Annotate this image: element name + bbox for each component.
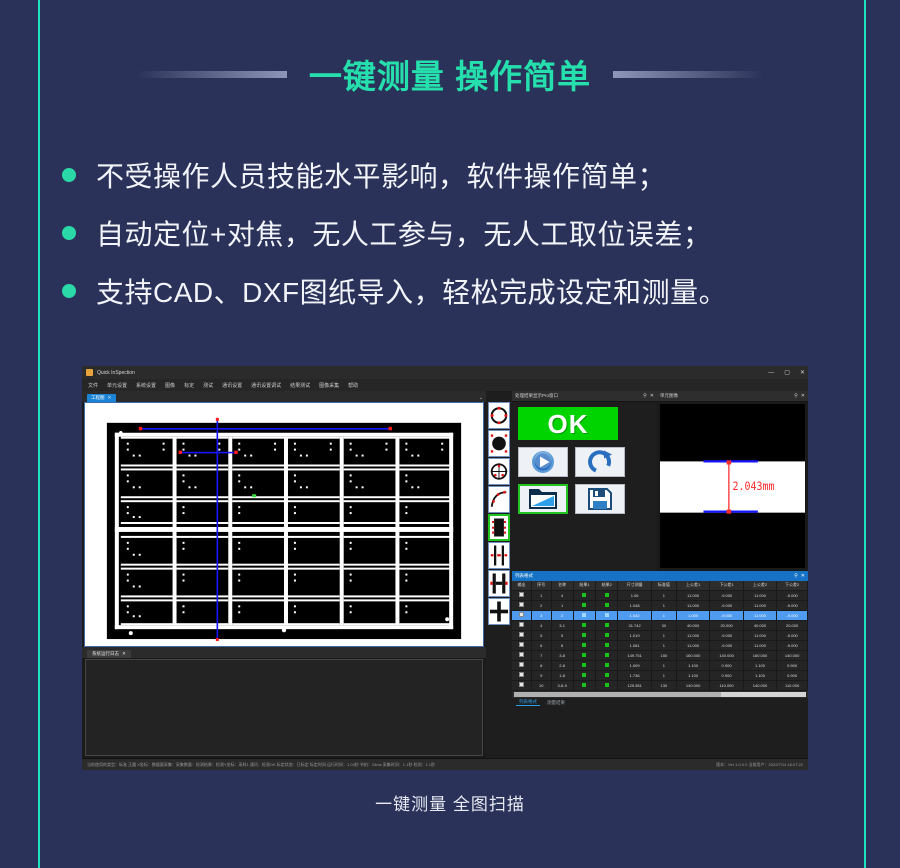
circle-outline-tool-icon[interactable] [488,402,510,429]
cell-upper1: 11.000 [676,630,709,640]
table-row[interactable]: 551.019111.000-9.00011.000-9.000 [512,630,808,640]
cell-name: 6 [551,640,573,650]
cell-lower2: 0.900 [777,670,808,680]
cell-name: 1-8 [551,670,573,680]
status-dot-icon [605,663,609,667]
status-left-text: 当前使用的类型：标准 正圆 X坐标：数据量采集：采集数量：检测结果：检测Y坐标：… [87,762,716,768]
cell-result1 [573,670,595,680]
cell-index: 4 [532,620,552,630]
col-result1[interactable]: 结果1 [573,581,595,590]
cell-lower1: 0.900 [710,670,743,680]
cell-upper2: 11.000 [743,590,776,600]
log-tabbar: 系统运行日志 ✕ [82,647,486,658]
cell-output [512,650,532,660]
cell-measure: 129.381 [618,680,651,690]
cell-measure: 1.736 [618,670,651,680]
cell-result1 [573,620,595,630]
status-dot-icon [605,613,609,617]
col-upper2[interactable]: 上公差2 [743,581,776,590]
scrollbar-track[interactable] [514,692,806,697]
list-item: 自动定位+对焦，无人工参与，无人工取位误差； [62,204,852,262]
cell-upper2: 11.000 [743,630,776,640]
cell-result2 [596,640,618,650]
tab-list-format[interactable]: 列表格式 [516,699,540,706]
menu-item-image[interactable]: 图像 [165,382,175,389]
tab-label: 系统运行日志 [92,651,119,657]
cell-lower1: 0.900 [710,660,743,670]
measurement-panel-header: 单元图像 ⚲ ✕ [657,391,808,402]
row-checkbox[interactable] [519,682,524,687]
table-row[interactable]: 103-8-9129.381130140.000110.000140.00011… [512,680,808,690]
cell-standard: 1 [651,610,676,620]
cad-tabbar: 工程图 ✕ ⌄ [82,391,486,402]
cell-standard: 150 [651,650,676,660]
cell-result1 [573,600,595,610]
cell-index: 3 [532,610,552,620]
tab-label: 工程图 [91,395,105,401]
close-icon[interactable]: ✕ [801,394,805,399]
status-dot-icon [582,653,586,657]
status-dot-icon [582,593,586,597]
cell-upper1: 11.000 [676,590,709,600]
table-row[interactable]: 661.061111.000-9.00011.000-9.000 [512,640,808,650]
cell-index: 8 [532,660,552,670]
table-row[interactable]: 211.048111.000-9.00011.000-9.000 [512,600,808,610]
control-panel-body: OK [512,402,657,571]
cad-column: 工程图 ✕ ⌄ [82,391,486,758]
measurement-graphic: 2.043mm [660,404,805,568]
cell-measure: 1.042 [618,610,651,620]
cell-result2 [596,630,618,640]
screenshot-caption: 一键测量 全图扫描 [0,790,900,815]
results-table-title: 列表格式 [515,573,791,579]
table-horizontal-scrollbar[interactable] [512,691,808,698]
col-index[interactable]: 序号 [532,581,552,590]
cell-standard: 1 [651,600,676,610]
close-icon[interactable]: ✕ [108,395,112,401]
promo-page: 一键测量 操作简单 不受操作人员技能水平影响，软件操作简单； 自动定位+对焦，无… [0,0,900,868]
col-standard[interactable]: 标准值 [651,581,676,590]
cell-index: 5 [532,630,552,640]
status-dot-icon [605,633,609,637]
cell-name: 3-1 [551,620,573,630]
cell-measure: 31.742 [618,620,651,630]
close-icon[interactable]: ✕ [801,574,805,579]
col-lower2[interactable]: 下公差2 [777,581,808,590]
cell-output [512,640,532,650]
table-row[interactable]: 91-81.73611.1000.9001.1000.900 [512,670,808,680]
bullet-text: 支持CAD、DXF图纸导入，轻松完成设定和测量。 [96,271,727,311]
cell-upper2: 40.000 [743,620,776,630]
close-icon[interactable]: ✕ [122,651,126,657]
cell-standard: 1 [651,630,676,640]
table-row[interactable]: 43-131.7423040.00020.00040.00020.000 [512,620,808,630]
bullet-dot-icon [62,168,76,182]
edge-tool-icon[interactable] [488,514,510,541]
status-dot-icon [582,663,586,667]
cell-result1 [573,650,595,660]
cell-measure: 1.061 [618,640,651,650]
cell-upper1: 140.000 [676,680,709,690]
status-dot-icon [605,673,609,677]
heading-row: 一键测量 操作简单 [0,50,900,98]
cell-upper2: 160.000 [743,650,776,660]
cell-measure: 1.06 [618,590,651,600]
tab-system-log[interactable]: 系统运行日志 ✕ [87,650,131,658]
cell-result1 [573,630,595,640]
col-result2[interactable]: 结果2 [596,581,618,590]
heading-decor-right [613,71,763,78]
results-column: 处理结果显示Pro窗口 ⚲ ✕ OK [512,391,808,758]
cell-lower1: -9.000 [710,630,743,640]
tab-measure-result[interactable]: 测量结果 [544,700,568,706]
cell-lower1: 140.000 [710,650,743,660]
pin-icon[interactable]: ⚲ [643,394,647,399]
cell-result2 [596,600,618,610]
cell-output [512,630,532,640]
menu-item-test[interactable]: 测试 [203,382,213,389]
measurement-canvas[interactable]: 2.043mm [657,402,808,571]
chevron-down-icon[interactable]: ⌄ [479,395,483,401]
heading-decor-left [137,71,287,78]
cell-upper1: 11.000 [676,600,709,610]
status-right-text: 版本：Ver 1.0.0.0 当前用户：2022/7/14 18:07:22 [716,762,803,768]
pcb-panel-drawing [85,403,483,646]
cell-upper2: 11.000 [743,610,776,620]
results-table-panel: 列表格式 ⚲ ✕ 输出 序号 名称 结果1 结果2 尺寸测 [512,571,808,758]
cell-upper1: 1.000 [676,610,709,620]
cell-upper1: 40.000 [676,620,709,630]
col-lower1[interactable]: 下公差1 [710,581,743,590]
app-titlebar: Quick InSpection — ▢ ✕ [82,366,808,379]
scrollbar-thumb[interactable] [514,692,721,697]
cell-upper1: 160.000 [676,650,709,660]
cell-lower1: 110.000 [710,680,743,690]
play-button-icon[interactable] [518,447,568,477]
bullet-dot-icon [62,284,76,298]
cell-measure: 1.048 [618,600,651,610]
cell-result1 [573,590,595,600]
cell-lower1: -9.000 [710,600,743,610]
status-dot-icon [582,613,586,617]
cell-output [512,600,532,610]
cell-lower2: 20.000 [777,620,808,630]
maximize-icon[interactable]: ▢ [784,370,790,376]
cell-result2 [596,650,618,660]
row-checkbox[interactable] [519,622,524,627]
cell-standard: 130 [651,680,676,690]
col-name[interactable]: 名称 [551,581,573,590]
col-upper1[interactable]: 上公差1 [676,581,709,590]
cell-output [512,620,532,630]
cell-lower2: -9.000 [777,590,808,600]
app-statusbar: 当前使用的类型：标准 正圆 X坐标：数据量采集：采集数量：检测结果：检测Y坐标：… [82,758,808,770]
menu-item-help[interactable]: 帮助 [348,382,358,389]
cell-lower2: 140.000 [777,650,808,660]
cell-standard: 1 [651,660,676,670]
crosshair-point-tool-icon[interactable] [488,598,510,625]
cell-output [512,590,532,600]
cell-upper2: 11.000 [743,640,776,650]
menu-item-calibration[interactable]: 标定 [184,382,194,389]
results-tabbar: 列表格式 测量结果 [512,698,808,708]
list-item: 支持CAD、DXF图纸导入，轻松完成设定和测量。 [62,262,852,320]
cell-upper1: 1.100 [676,660,709,670]
pin-icon[interactable]: ⚲ [794,574,798,579]
menu-item-file[interactable]: 文件 [88,382,98,389]
cell-measure: 1.009 [618,660,651,670]
cell-upper2: 140.000 [743,680,776,690]
cell-output [512,610,532,620]
control-panel-title: 处理结果显示Pro窗口 [515,393,643,399]
app-title: Quick InSpection [97,370,135,376]
cell-result1 [573,640,595,650]
decor-rail-left [38,0,40,868]
cell-upper2: 1.100 [743,670,776,680]
tab-engineering-drawing[interactable]: 工程图 ✕ [87,394,116,402]
cell-upper2: 1.100 [743,660,776,670]
table-row[interactable]: 82-81.00911.1000.9001.1000.900 [512,660,808,670]
software-screenshot: Quick InSpection — ▢ ✕ 文件 单元设置 系统设置 图像 标… [82,366,808,770]
row-checkbox[interactable] [519,662,524,667]
measurement-panel-title: 单元图像 [660,393,794,399]
cell-lower2: -9.000 [777,630,808,640]
cad-drawing-canvas[interactable] [84,402,484,647]
cell-name: 2-8 [551,660,573,670]
arc-tool-icon[interactable] [488,486,510,513]
row-checkbox[interactable] [519,592,524,597]
menu-item-comm-debug[interactable]: 通讯设置调试 [251,382,281,389]
table-row[interactable]: 73-8149.751150160.000140.000160.000140.0… [512,650,808,660]
cell-output [512,680,532,690]
cell-result2 [596,610,618,620]
app-menubar: 文件 单元设置 系统设置 图像 标定 测试 通讯设置 通讯设置调试 结果测试 图… [82,379,808,391]
cell-standard: 1 [651,590,676,600]
cell-name: 4 [551,590,573,600]
cell-index: 6 [532,640,552,650]
menu-item-comm-settings[interactable]: 通讯设置 [222,382,242,389]
close-icon[interactable]: ✕ [650,394,654,399]
open-folder-icon[interactable] [518,484,568,514]
cell-result2 [596,620,618,630]
decor-rail-right [864,0,866,868]
menu-item-unit-settings[interactable]: 单元设置 [107,382,127,389]
status-dot-icon [605,643,609,647]
results-top-row: 处理结果显示Pro窗口 ⚲ ✕ OK [512,391,808,571]
cell-result2 [596,660,618,670]
cell-upper1: 1.100 [676,670,709,680]
menu-item-system-settings[interactable]: 系统设置 [136,382,156,389]
row-checkbox[interactable] [519,612,524,617]
app-body: 工程图 ✕ ⌄ [82,391,808,758]
control-panel: 处理结果显示Pro窗口 ⚲ ✕ OK [512,391,657,571]
cell-name: 3-8 [551,650,573,660]
table-row[interactable]: 321.04211.000-9.00011.000-9.000 [512,610,808,620]
status-dot-icon [582,643,586,647]
measurement-value-label: 2.043mm [733,480,775,494]
cell-upper2: 11.000 [743,600,776,610]
cell-result2 [596,680,618,690]
window-controls: — ▢ ✕ [768,366,805,379]
cell-measure: 1.019 [618,630,651,640]
minimize-icon[interactable]: — [768,370,774,376]
cell-lower1: 20.000 [710,620,743,630]
pin-icon[interactable]: ⚲ [794,394,798,399]
bullet-text: 自动定位+对焦，无人工参与，无人工取位误差； [96,213,711,253]
status-dot-icon [605,603,609,607]
list-item: 不受操作人员技能水平影响，软件操作简单； [62,146,852,204]
cell-name: 3-8-9 [551,680,573,690]
status-badge-text: OK [548,411,589,437]
cell-lower2: -9.000 [777,640,808,650]
row-checkbox[interactable] [519,642,524,647]
cell-result1 [573,680,595,690]
cell-standard: 30 [651,620,676,630]
status-badge: OK [518,407,618,440]
measurement-tool-strip [486,391,512,758]
col-output[interactable]: 输出 [512,581,532,590]
cell-upper1: 11.000 [676,640,709,650]
row-checkbox[interactable] [519,632,524,637]
status-dot-icon [605,623,609,627]
cell-index: 1 [532,590,552,600]
row-checkbox[interactable] [519,652,524,657]
cell-index: 9 [532,670,552,680]
app-logo-icon [86,369,93,376]
results-table-header: 列表格式 ⚲ ✕ [512,571,808,581]
cell-result1 [573,610,595,620]
status-dot-icon [582,623,586,627]
close-icon[interactable]: ✕ [800,370,805,376]
page-title: 一键测量 操作简单 [309,50,591,98]
filled-circle-tool-icon[interactable] [488,430,510,457]
control-panel-header: 处理结果显示Pro窗口 ⚲ ✕ [512,391,657,402]
col-measure[interactable]: 尺寸测量 [618,581,651,590]
status-dot-icon [605,653,609,657]
cell-result2 [596,670,618,680]
save-disk-icon[interactable] [575,484,625,514]
menu-item-image-capture[interactable]: 图像采集 [319,382,339,389]
circle-center-tool-icon[interactable] [488,458,510,485]
bullet-text: 不受操作人员技能水平影响，软件操作简单； [96,155,666,195]
status-dot-icon [605,593,609,597]
refresh-button-icon[interactable] [575,447,625,477]
cell-lower2: -9.000 [777,600,808,610]
cell-lower1: -9.000 [710,640,743,650]
cell-lower2: 0.900 [777,660,808,670]
cell-name: 5 [551,630,573,640]
row-checkbox[interactable] [519,672,524,677]
status-dot-icon [582,683,586,687]
status-dot-icon [582,673,586,677]
cell-index: 10 [532,680,552,690]
parallel-lines-tool-icon[interactable] [488,542,510,569]
menu-item-result-test[interactable]: 结果测试 [290,382,310,389]
measurement-image-panel: 单元图像 ⚲ ✕ [657,391,808,571]
status-dot-icon [582,603,586,607]
results-table: 输出 序号 名称 结果1 结果2 尺寸测量 标准值 上公差1 下公差1 上公差2 [512,581,808,691]
feature-bullet-list: 不受操作人员技能水平影响，软件操作简单； 自动定位+对焦，无人工参与，无人工取位… [62,146,852,320]
row-checkbox[interactable] [519,602,524,607]
width-tool-icon[interactable] [488,570,510,597]
cell-result2 [596,590,618,600]
status-dot-icon [582,633,586,637]
bullet-dot-icon [62,226,76,240]
cell-lower1: -9.000 [710,610,743,620]
cell-name: 2 [551,610,573,620]
cell-index: 2 [532,600,552,610]
cell-lower2: 110.000 [777,680,808,690]
table-row[interactable]: 141.06111.000-9.00011.000-9.000 [512,590,808,600]
status-dot-icon [605,683,609,687]
cell-lower2: -9.000 [777,610,808,620]
cell-standard: 1 [651,640,676,650]
table-header-row: 输出 序号 名称 结果1 结果2 尺寸测量 标准值 上公差1 下公差1 上公差2 [512,581,808,590]
cell-output [512,660,532,670]
cell-measure: 149.751 [618,650,651,660]
cell-name: 1 [551,600,573,610]
log-output-area[interactable] [85,659,483,756]
action-button-grid [518,447,625,514]
cell-output [512,670,532,680]
cell-lower1: -9.000 [710,590,743,600]
cell-index: 7 [532,650,552,660]
cell-result1 [573,660,595,670]
cell-standard: 1 [651,670,676,680]
